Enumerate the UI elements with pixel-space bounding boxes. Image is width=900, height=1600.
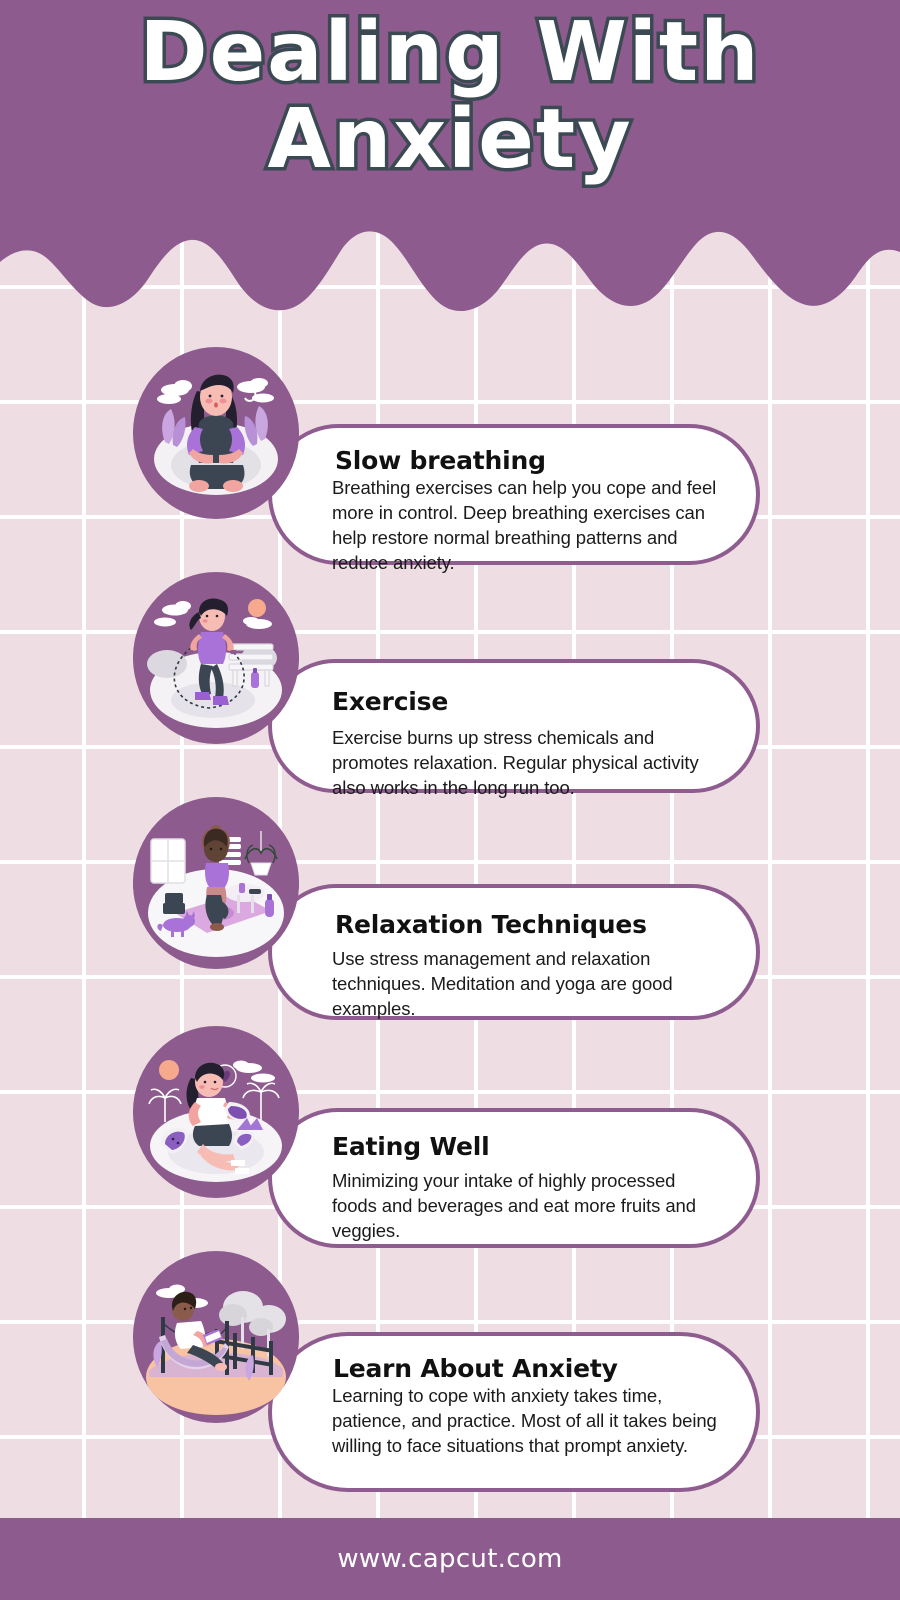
meditation-illustration [133, 347, 299, 519]
tip-body: Minimizing your intake of highly process… [332, 1169, 722, 1244]
tip-heading: Exercise [332, 687, 722, 716]
jump-rope-illustration-art [133, 572, 299, 744]
watermelon-eating-illustration-art [133, 1026, 299, 1198]
yoga-pose-illustration-art [133, 797, 299, 969]
tip-card[interactable]: Relaxation Techniques Use stress managem… [268, 884, 760, 1020]
tip-body: Use stress management and relaxation tec… [332, 947, 722, 1022]
footer-bar: www.capcut.com [0, 1518, 900, 1600]
tip-body: Exercise burns up stress chemicals and p… [332, 726, 722, 801]
hammock-reading-illustration [133, 1251, 299, 1423]
tip-card[interactable]: Eating Well Minimizing your intake of hi… [268, 1108, 760, 1248]
tip-heading: Eating Well [332, 1132, 722, 1161]
tip-body: Breathing exercises can help you cope an… [332, 476, 722, 576]
yoga-pose-illustration [133, 797, 299, 969]
jump-rope-illustration [133, 572, 299, 744]
watermelon-eating-illustration [133, 1026, 299, 1198]
tips-list: Slow breathing Breathing exercises can h… [0, 0, 900, 1600]
meditation-illustration-art [133, 347, 299, 519]
tip-heading: Relaxation Techniques [335, 910, 722, 939]
tip-card[interactable]: Learn About Anxiety Learning to cope wit… [268, 1332, 760, 1492]
tip-heading: Slow breathing [335, 446, 722, 475]
tip-card[interactable]: Exercise Exercise burns up stress chemic… [268, 659, 760, 793]
tip-heading: Learn About Anxiety [333, 1354, 722, 1383]
footer-url[interactable]: www.capcut.com [337, 1544, 562, 1574]
tip-card[interactable]: Slow breathing Breathing exercises can h… [268, 424, 760, 565]
hammock-reading-illustration-art [133, 1251, 299, 1423]
tip-body: Learning to cope with anxiety takes time… [332, 1384, 722, 1459]
infographic-canvas: Dealing With Anxiety Slow breathing Brea… [0, 0, 900, 1600]
